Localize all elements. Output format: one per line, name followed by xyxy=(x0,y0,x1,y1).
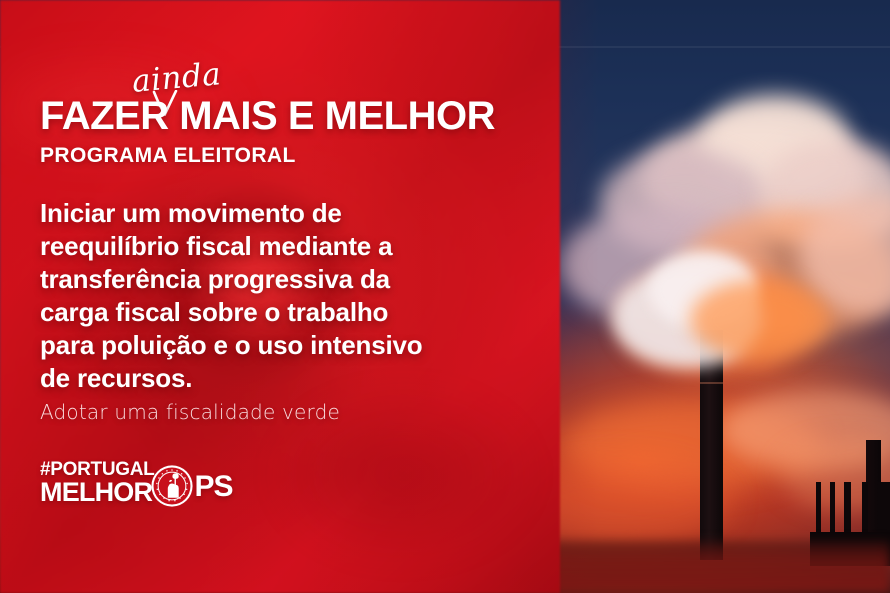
logo-second-line: MELHOR xyxy=(40,480,154,505)
message-body-text: Iniciar um movimento de reequilíbrio fis… xyxy=(40,197,440,395)
message-tagline-text: Adotar uma fiscalidade verde xyxy=(40,400,340,424)
logo-lockup: #PORTUGAL MELHOR xyxy=(40,459,233,507)
headline-text: FAZER MAIS E MELHOR xyxy=(40,96,495,136)
campaign-poster: ainda FAZER MAIS E MELHOR PROGRAMA ELEIT… xyxy=(0,0,890,593)
party-abbreviation: PS xyxy=(194,470,232,504)
headline-block: ainda FAZER MAIS E MELHOR xyxy=(40,96,495,136)
poster-content: ainda FAZER MAIS E MELHOR PROGRAMA ELEIT… xyxy=(0,0,560,593)
smoke-plume xyxy=(690,280,830,360)
subheadline-text: PROGRAMA ELEITORAL xyxy=(40,144,296,168)
portugal-melhor-wordmark: #PORTUGAL MELHOR xyxy=(40,461,154,504)
ps-fist-rose-emblem-icon xyxy=(151,465,193,507)
